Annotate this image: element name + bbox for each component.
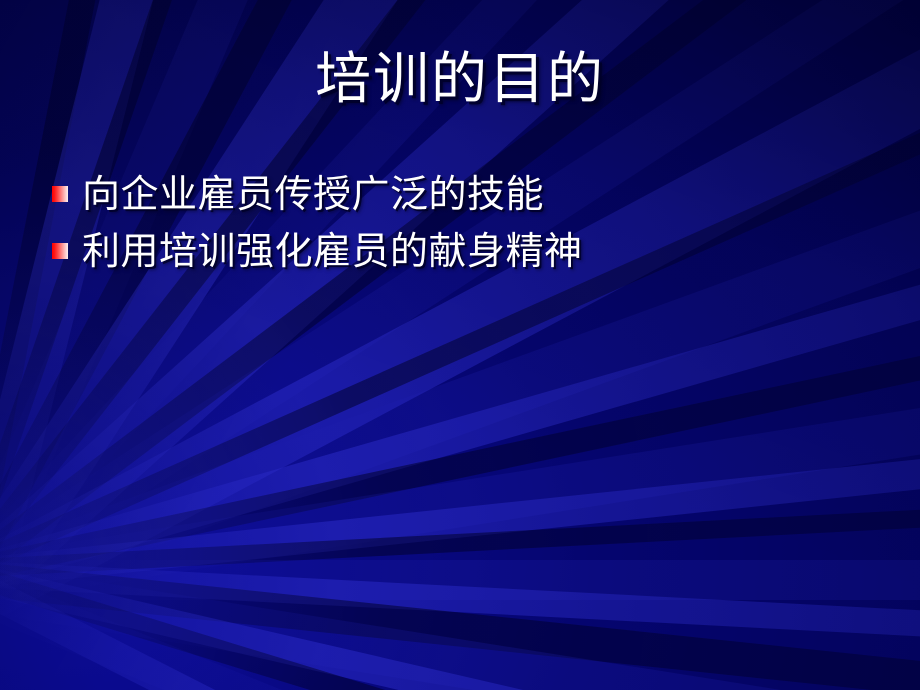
slide-bullet-list: 向企业雇员传授广泛的技能利用培训强化雇员的献身精神: [52, 172, 892, 286]
bullet-item: 利用培训强化雇员的献身精神: [52, 229, 892, 277]
square-bullet-icon: [52, 243, 68, 259]
bullet-item: 向企业雇员传授广泛的技能: [52, 172, 892, 220]
square-bullet-icon: [52, 186, 68, 202]
slide-title: 培训的目的: [0, 47, 920, 113]
presentation-slide: 培训的目的 向企业雇员传授广泛的技能利用培训强化雇员的献身精神: [0, 0, 920, 690]
bullet-item-text: 向企业雇员传授广泛的技能: [82, 172, 892, 218]
bullet-item-text: 利用培训强化雇员的献身精神: [82, 229, 892, 275]
